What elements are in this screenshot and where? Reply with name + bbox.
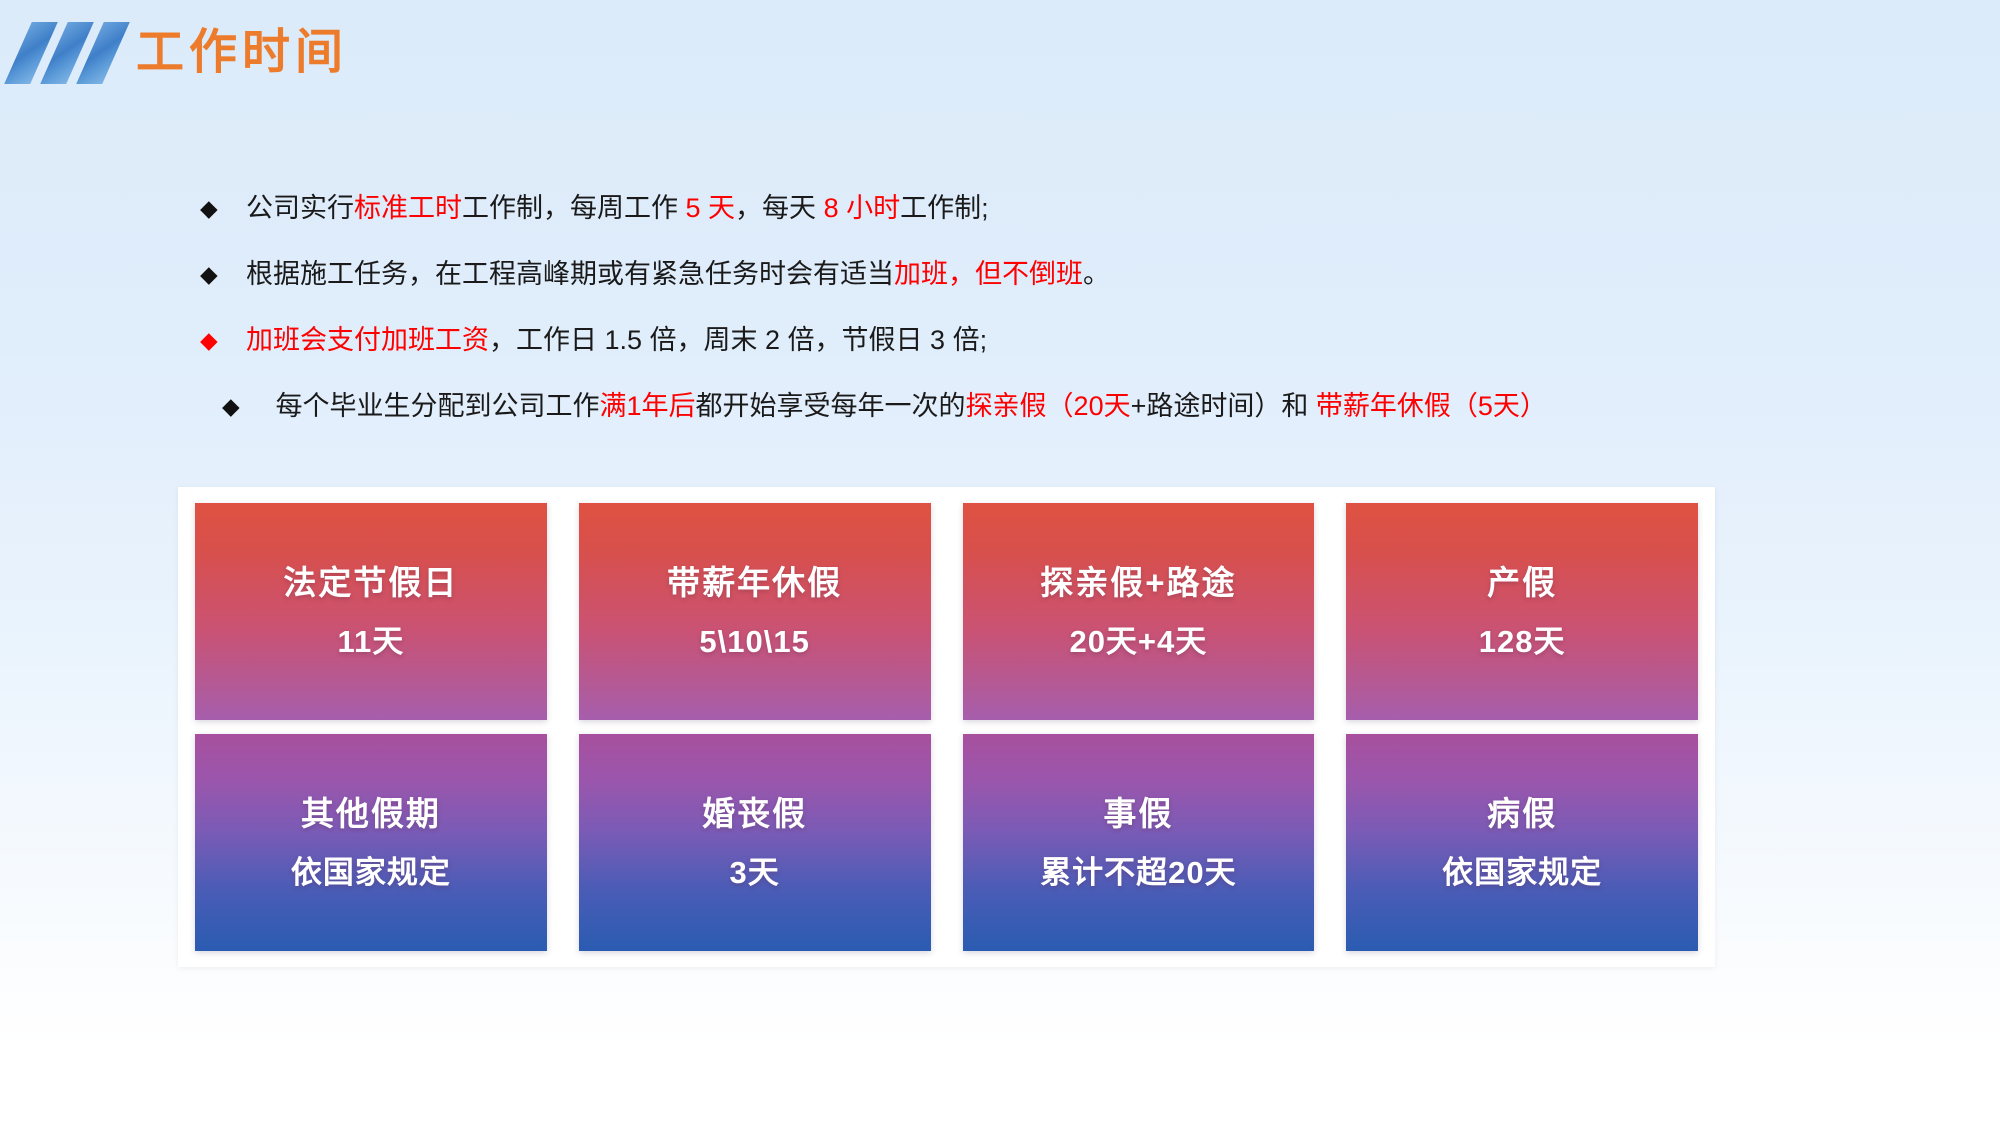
leave-card: 其他假期依国家规定 xyxy=(195,734,547,951)
leave-card-panel: 法定节假日11天带薪年休假5\10\15探亲假+路途20天+4天产假128天其他… xyxy=(178,487,1715,967)
bullet-text-plain: ，每天 xyxy=(735,193,824,223)
leave-card: 探亲假+路途20天+4天 xyxy=(963,503,1315,720)
three-slash-logo-icon xyxy=(12,22,117,84)
leave-card-value: 11天 xyxy=(337,622,404,662)
leave-card-title: 其他假期 xyxy=(301,793,441,835)
bullet-text-plain: 。 xyxy=(1083,259,1110,289)
bullet-diamond-icon: ◆ xyxy=(200,188,246,228)
leave-card-title: 探亲假+路途 xyxy=(1040,562,1236,604)
leave-card-value: 依国家规定 xyxy=(1442,853,1602,893)
leave-card-title: 法定节假日 xyxy=(283,562,458,604)
bullet-text-plain: 每个毕业生分配到公司工作 xyxy=(268,391,600,421)
bullet-text-highlight: 5 天 xyxy=(686,193,736,223)
leave-card-grid: 法定节假日11天带薪年休假5\10\15探亲假+路途20天+4天产假128天其他… xyxy=(195,503,1698,951)
leave-card: 事假累计不超20天 xyxy=(963,734,1315,951)
bullet-item: ◆加班会支付加班工资，工作日 1.5 倍，周末 2 倍，节假日 3 倍; xyxy=(200,307,1920,373)
bullet-item: ◆根据施工任务，在工程高峰期或有紧急任务时会有适当加班，但不倒班。 xyxy=(200,241,1920,307)
bullet-diamond-icon: ◆ xyxy=(200,320,246,360)
leave-card-title: 病假 xyxy=(1487,793,1557,835)
leave-card-title: 产假 xyxy=(1487,562,1557,604)
bullet-text-highlight: 加班，但不倒班 xyxy=(894,259,1083,289)
leave-card: 带薪年休假5\10\15 xyxy=(579,503,931,720)
bullet-text: 加班会支付加班工资，工作日 1.5 倍，周末 2 倍，节假日 3 倍; xyxy=(246,320,987,360)
leave-card-value: 依国家规定 xyxy=(291,853,451,893)
bullet-diamond-icon: ◆ xyxy=(222,386,268,426)
bullet-text: 公司实行标准工时工作制，每周工作 5 天，每天 8 小时工作制; xyxy=(246,188,989,228)
bullet-diamond-icon: ◆ xyxy=(200,254,246,294)
leave-card-title: 带薪年休假 xyxy=(667,562,842,604)
bullet-text-plain: 公司实行 xyxy=(246,193,354,223)
leave-card: 婚丧假3天 xyxy=(579,734,931,951)
leave-card-title: 事假 xyxy=(1103,793,1173,835)
leave-card: 病假依国家规定 xyxy=(1346,734,1698,951)
leave-card-value: 20天+4天 xyxy=(1069,622,1207,662)
bullet-text-highlight: 满1年后 xyxy=(600,391,696,421)
bullet-text-plain: 都开始享受每年一次的 xyxy=(696,391,966,421)
bullet-text-highlight: 带薪年休假（5天） xyxy=(1316,391,1547,421)
bullet-text: 根据施工任务，在工程高峰期或有紧急任务时会有适当加班，但不倒班。 xyxy=(246,254,1110,294)
leave-card-value: 128天 xyxy=(1479,622,1566,662)
bullet-text-plain: 工作制; xyxy=(900,193,989,223)
page-title: 工作时间 xyxy=(136,20,348,86)
leave-card-title: 婚丧假 xyxy=(702,793,807,835)
leave-card: 法定节假日11天 xyxy=(195,503,547,720)
bullet-text-plain: 根据施工任务，在工程高峰期或有紧急任务时会有适当 xyxy=(246,259,894,289)
leave-card-value: 5\10\15 xyxy=(699,622,809,662)
slide-canvas: 工作时间 ◆公司实行标准工时工作制，每周工作 5 天，每天 8 小时工作制;◆根… xyxy=(0,0,2000,1125)
leave-card: 产假128天 xyxy=(1346,503,1698,720)
slide-header: 工作时间 xyxy=(0,0,2000,110)
bullet-text-plain: ，工作日 1.5 倍，周末 2 倍，节假日 3 倍; xyxy=(489,325,987,355)
bullet-item: ◆公司实行标准工时工作制，每周工作 5 天，每天 8 小时工作制; xyxy=(200,175,1920,241)
bullet-list: ◆公司实行标准工时工作制，每周工作 5 天，每天 8 小时工作制;◆根据施工任务… xyxy=(200,175,1920,439)
bullet-text-highlight: 标准工时 xyxy=(354,193,462,223)
bullet-text-plain: 工作制，每周工作 xyxy=(462,193,686,223)
bullet-text-highlight: 探亲假（20天 xyxy=(966,391,1131,421)
leave-card-value: 累计不超20天 xyxy=(1040,853,1236,893)
bullet-text: 每个毕业生分配到公司工作满1年后都开始享受每年一次的探亲假（20天+路途时间）和… xyxy=(268,386,1547,426)
bullet-text-plain: +路途时间）和 xyxy=(1131,391,1316,421)
leave-card-value: 3天 xyxy=(730,853,780,893)
bullet-item: ◆ 每个毕业生分配到公司工作满1年后都开始享受每年一次的探亲假（20天+路途时间… xyxy=(200,373,1920,439)
bullet-text-highlight: 加班会支付加班工资 xyxy=(246,325,489,355)
bullet-text-highlight: 8 小时 xyxy=(824,193,901,223)
